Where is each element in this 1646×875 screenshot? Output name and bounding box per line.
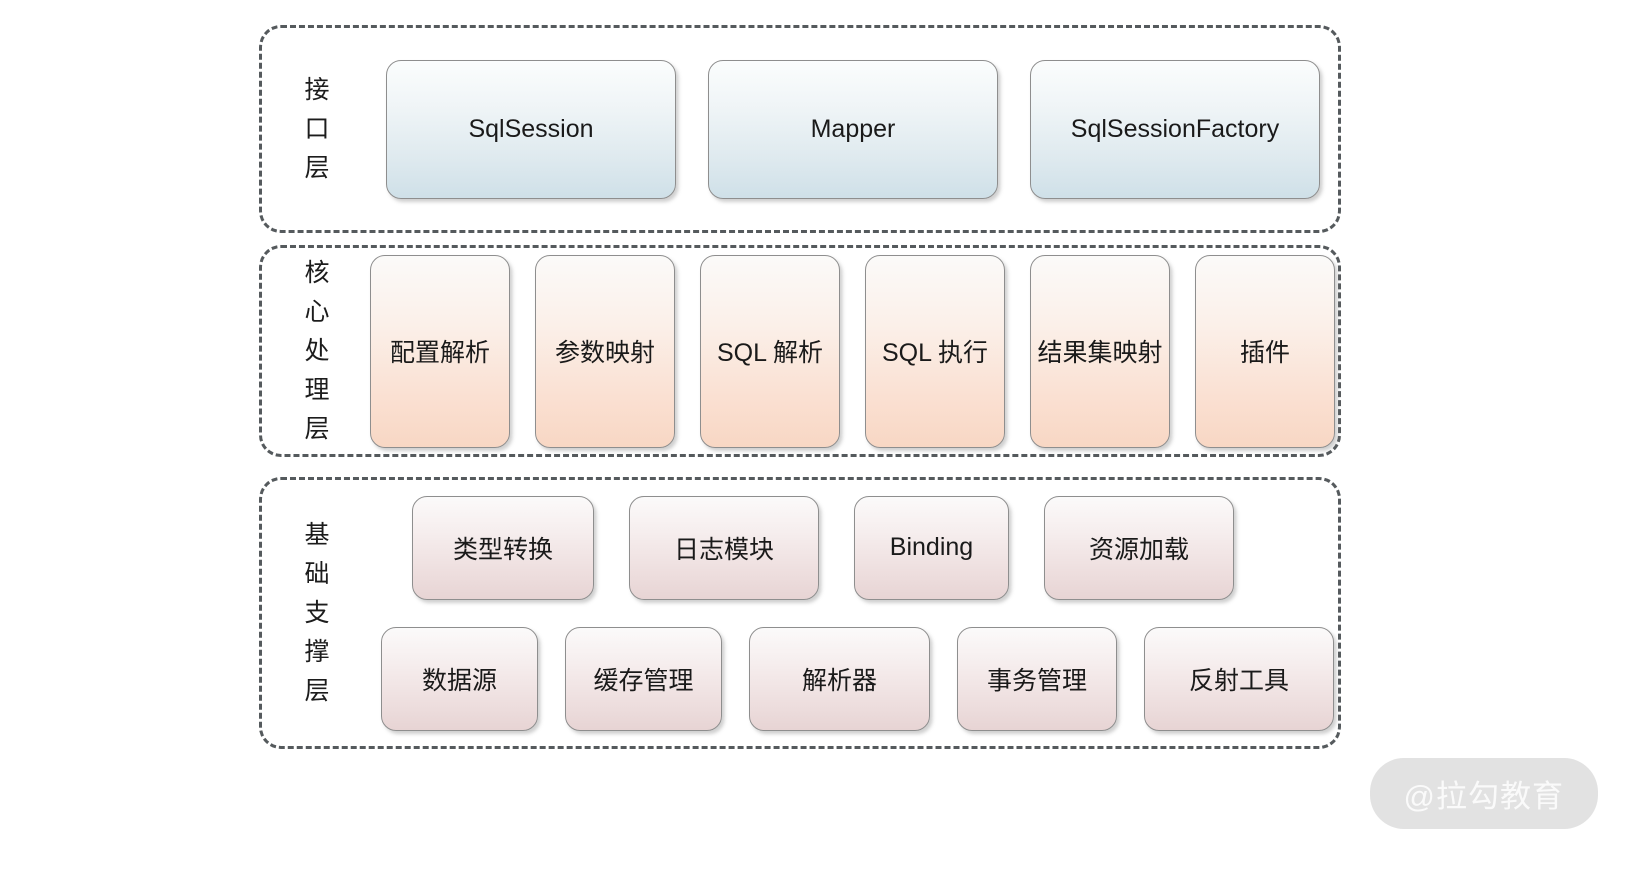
node-config-parsing[interactable]: 配置解析 [370,255,510,448]
node-datasource[interactable]: 数据源 [381,627,538,731]
node-plugin[interactable]: 插件 [1195,255,1335,448]
layer-interface: 接 口 层 SqlSession Mapper SqlSessionFactor… [259,25,1341,233]
node-reflection-tools[interactable]: 反射工具 [1144,627,1334,731]
layer-interface-body: SqlSession Mapper SqlSessionFactory [350,28,1338,230]
node-resultset-mapping[interactable]: 结果集映射 [1030,255,1170,448]
layer-core-processing-body: 配置解析 参数映射 SQL 解析 SQL 执行 结果集映射 插件 [350,248,1338,454]
layer-core-processing-row: 配置解析 参数映射 SQL 解析 SQL 执行 结果集映射 插件 [370,255,1338,448]
node-sql-execution[interactable]: SQL 执行 [865,255,1005,448]
layer-label-char: 层 [304,672,329,711]
layer-foundation-support: 基 础 支 撑 层 类型转换 日志模块 Binding 资源加载 数据源 缓存管… [259,477,1341,749]
layer-label-char: 理 [304,371,329,410]
node-transaction-management[interactable]: 事务管理 [957,627,1117,731]
layer-label-char: 基 [304,516,329,555]
layer-foundation-support-row-top: 类型转换 日志模块 Binding 资源加载 [412,496,1338,600]
layer-core-processing: 核 心 处 理 层 配置解析 参数映射 SQL 解析 SQL 执行 结果集映射 … [259,245,1341,457]
layer-foundation-support-label: 基 础 支 撑 层 [284,516,350,711]
layer-label-char: 础 [304,555,329,594]
node-parser[interactable]: 解析器 [749,627,930,731]
layer-label-char: 层 [304,410,329,449]
layer-label-char: 撑 [304,633,329,672]
node-logging-module[interactable]: 日志模块 [629,496,819,600]
layer-label-char: 口 [304,110,329,149]
node-sqlsession[interactable]: SqlSession [386,60,676,199]
layer-label-char: 心 [304,293,329,332]
layer-foundation-support-body: 类型转换 日志模块 Binding 资源加载 数据源 缓存管理 解析器 事务管理… [350,480,1338,746]
layer-label-char: 核 [304,254,329,293]
layer-foundation-support-row-bottom: 数据源 缓存管理 解析器 事务管理 反射工具 [381,627,1338,731]
node-resource-loading[interactable]: 资源加载 [1044,496,1234,600]
layer-interface-row: SqlSession Mapper SqlSessionFactory [386,60,1338,199]
node-sql-parsing[interactable]: SQL 解析 [700,255,840,448]
watermark: @拉勾教育 [1370,758,1598,829]
layer-label-char: 层 [304,149,329,188]
node-mapper[interactable]: Mapper [708,60,998,199]
layer-label-char: 支 [304,594,329,633]
node-cache-management[interactable]: 缓存管理 [565,627,722,731]
node-parameter-mapping[interactable]: 参数映射 [535,255,675,448]
node-sqlsessionfactory[interactable]: SqlSessionFactory [1030,60,1320,199]
layer-core-processing-label: 核 心 处 理 层 [284,254,350,449]
node-binding[interactable]: Binding [854,496,1009,600]
layer-interface-label: 接 口 层 [284,71,350,188]
layer-label-char: 处 [304,332,329,371]
architecture-diagram: 接 口 层 SqlSession Mapper SqlSessionFactor… [0,0,1646,875]
layer-label-char: 接 [304,71,329,110]
node-type-conversion[interactable]: 类型转换 [412,496,594,600]
